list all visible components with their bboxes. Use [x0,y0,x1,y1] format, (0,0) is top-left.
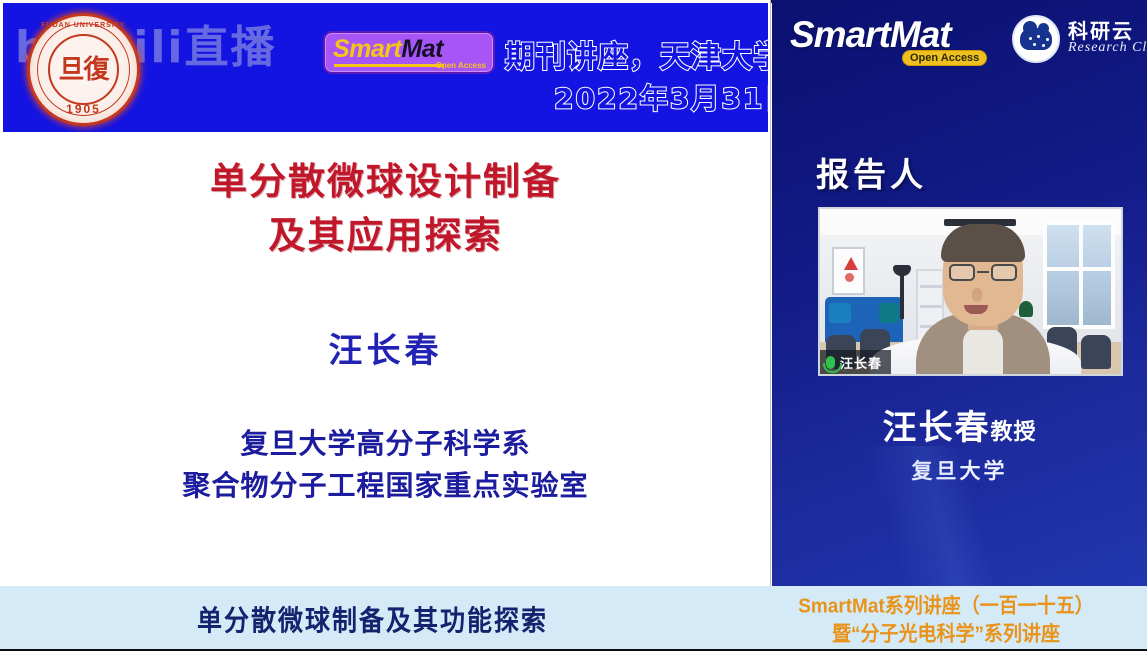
smartmat-underline [334,64,444,67]
slide-body: 单分散微球设计制备 及其应用探索 汪长春 复旦大学高分子科学系 聚合物分子工程国… [3,133,768,583]
video-nametag-label: 汪长春 [840,353,882,372]
fudan-university-seal-icon: FUDAN UNIVERSITY 旦復 1905 [27,13,140,126]
stream-canvas: bilibili直播 FUDAN UNIVERSITY 旦復 1905 Smar… [0,0,1147,651]
seal-year-text: 1905 [30,102,137,116]
presenter-section-label: 报告人 [816,148,927,196]
presenter-name-title: 教授 [990,419,1036,444]
video-background-floor-lamp [900,271,904,319]
slide-affiliation-line-1: 复旦大学高分子科学系 [3,423,768,465]
footer-left-banner: 单分散微球制备及其功能探索 [0,586,745,651]
glasses-lens-right [991,264,1017,281]
footer-series-line-1: SmartMat系列讲座（一百一十五） [798,590,1094,619]
slide-title-line-1: 单分散微球设计制备 [3,155,768,209]
research-cloud-en-text: Research Cloud [1068,40,1147,56]
presenter-shirt [963,328,1003,374]
slide-affiliation-line-2: 聚合物分子工程国家重点实验室 [3,465,768,507]
presenter-figure [916,222,1050,374]
slide-speaker-name: 汪长春 [3,323,768,372]
network-dots [1027,35,1051,49]
presenter-video-tile[interactable]: 汪长春 [818,207,1123,376]
seal-center-glyphs: 旦復 [58,57,108,83]
footer-topic-text: 单分散微球制备及其功能探索 [197,598,548,638]
slide-header-date: 2022年3月31日 [554,77,768,117]
smartmat-open-access-badge: Open Access [902,50,987,66]
presenter-nose [972,288,982,302]
presenter-hair [941,224,1025,262]
footer-series-line-2: 暨“分子光电科学”系列讲座 [832,618,1060,647]
research-cloud-logo: 科研云 Research Cloud [1012,13,1140,69]
footer-right-banner: SmartMat系列讲座（一百一十五） 暨“分子光电科学”系列讲座 [745,586,1147,651]
smartmat-wordmark: SmartMat [333,34,443,64]
presenter-organization: 复旦大学 [772,455,1147,485]
presenter-name-row: 汪长春教授 [772,400,1147,449]
slide-header-band: bilibili直播 FUDAN UNIVERSITY 旦復 1905 Smar… [3,3,768,132]
wall-art-circle [845,273,854,282]
slide-title: 单分散微球设计制备 及其应用探索 [3,155,768,263]
glasses-lens-left [949,264,975,281]
presenter-panel: SmartMat Open Access 科研云 Research Cloud … [772,0,1147,586]
presenter-brand-header: SmartMat Open Access 科研云 Research Cloud [772,0,1147,88]
shared-slide-panel: bilibili直播 FUDAN UNIVERSITY 旦復 1905 Smar… [0,0,771,586]
video-nametag: 汪长春 [820,350,891,374]
footer-banner: 单分散微球制备及其功能探索 SmartMat系列讲座（一百一十五） 暨“分子光电… [0,586,1147,651]
video-background-window [1043,221,1115,329]
glasses-bridge [977,271,989,273]
microphone-icon [826,356,835,369]
presenter-name-main: 汪长春 [882,409,990,447]
smartmat-logo: SmartMat Open Access [323,31,495,74]
slide-affiliation: 复旦大学高分子科学系 聚合物分子工程国家重点实验室 [3,423,768,507]
window-mullion-vertical [1079,225,1083,325]
slide-header-venue: 期刊讲座，天津大学 [505,32,768,76]
window-mullion-horizontal [1047,267,1111,271]
smartmat-word-mat: Mat [401,35,443,63]
video-background-chair [1081,335,1111,369]
smartmat-word-smart: Smart [333,35,401,63]
smartmat-open-access-tag: Open Access [436,61,486,70]
cloud-network-icon [1012,15,1060,63]
wall-art-triangle [844,257,858,270]
video-background-wall-art [832,247,865,295]
presenter-glasses [949,264,1017,282]
seal-arc-top-text: FUDAN UNIVERSITY [30,22,137,30]
slide-title-line-2: 及其应用探索 [3,209,768,263]
